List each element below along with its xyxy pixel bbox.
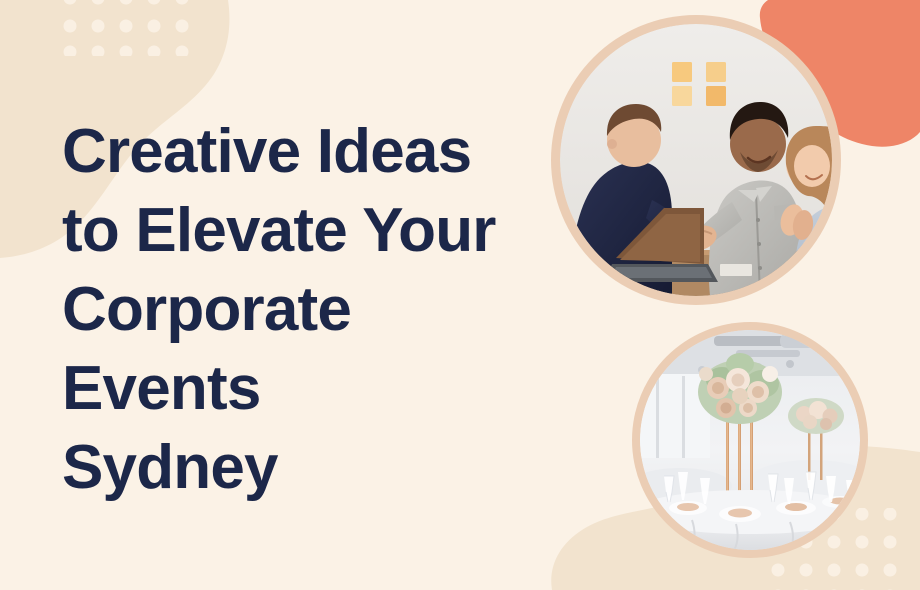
- dot-grid-top-left-icon: [62, 0, 190, 56]
- photo-event-table-setting: [632, 322, 868, 558]
- headline-block: Creative Ideas to Elevate Your Corporate…: [62, 112, 562, 507]
- banner-canvas: Creative Ideas to Elevate Your Corporate…: [0, 0, 920, 590]
- page-title: Creative Ideas to Elevate Your Corporate…: [62, 112, 562, 507]
- photo-business-handshake-image: [560, 24, 832, 296]
- photo-event-table-setting-image: [640, 330, 860, 550]
- photo-business-handshake: [551, 15, 841, 305]
